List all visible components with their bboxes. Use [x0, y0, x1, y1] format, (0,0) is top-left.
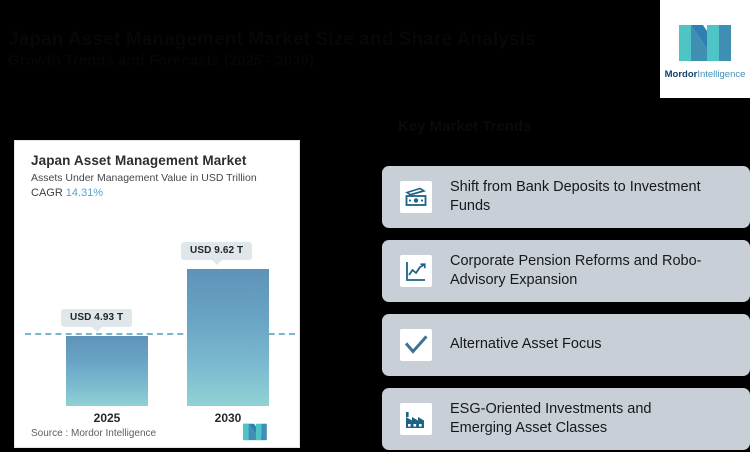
page-title: Japan Asset Management Market Size and S… — [8, 28, 648, 52]
cagr-value: 14.31% — [66, 187, 103, 199]
chart-card: Japan Asset Management Market Assets Und… — [14, 140, 300, 448]
chart-source: Source : Mordor Intelligence — [31, 428, 156, 439]
trend-card-label: Alternative Asset Focus — [450, 335, 606, 354]
trend-card-list: Shift from Bank Deposits to Investment F… — [382, 166, 750, 452]
trend-card-3[interactable]: Alternative Asset Focus — [382, 314, 750, 376]
trend-card-label: Shift from Bank Deposits to Investment F… — [450, 178, 705, 216]
brand-name-light: Intelligence — [697, 69, 745, 80]
x-tick-2025: 2025 — [66, 411, 148, 425]
screenshot-root: Japan Asset Management Market Size and S… — [0, 0, 750, 452]
trend-card-label: Corporate Pension Reforms and Robo- Advi… — [450, 252, 705, 290]
mordor-m-mark-icon — [241, 421, 269, 441]
mordor-m-mark-icon — [677, 19, 733, 63]
trend-card-2[interactable]: Corporate Pension Reforms and Robo- Advi… — [382, 240, 750, 302]
chart-plot-area: USD 4.93 T USD 9.62 T — [15, 211, 300, 406]
brand-wordmark: MordorIntelligence — [665, 69, 746, 80]
trend-card-4[interactable]: ESG-Oriented Investments and Emerging As… — [382, 388, 750, 450]
cagr-label: CAGR — [31, 187, 63, 199]
chart-subtitle: Assets Under Management Value in USD Tri… — [31, 172, 257, 184]
bar-2030 — [187, 269, 269, 406]
page-subtitle: Growth Trends and Forecasts (2025 - 2030… — [8, 52, 648, 71]
banknote-icon — [400, 181, 432, 213]
trend-card-1[interactable]: Shift from Bank Deposits to Investment F… — [382, 166, 750, 228]
chart-title: Japan Asset Management Market — [31, 153, 246, 168]
trend-card-label: ESG-Oriented Investments and Emerging As… — [450, 400, 656, 438]
page-header: Japan Asset Management Market Size and S… — [0, 0, 660, 98]
check-icon — [400, 329, 432, 361]
brand-name-bold: Mordor — [665, 69, 698, 80]
panel-heading: Key Market Trends — [398, 118, 678, 135]
bar-value-label-2030: USD 9.62 T — [181, 242, 252, 260]
brand-logo: MordorIntelligence — [660, 0, 750, 98]
bar-2025 — [66, 336, 148, 406]
factory-icon — [400, 403, 432, 435]
chart-cagr: CAGR14.31% — [31, 187, 103, 199]
line-chart-icon — [400, 255, 432, 287]
bar-value-label-2025: USD 4.93 T — [61, 309, 132, 327]
